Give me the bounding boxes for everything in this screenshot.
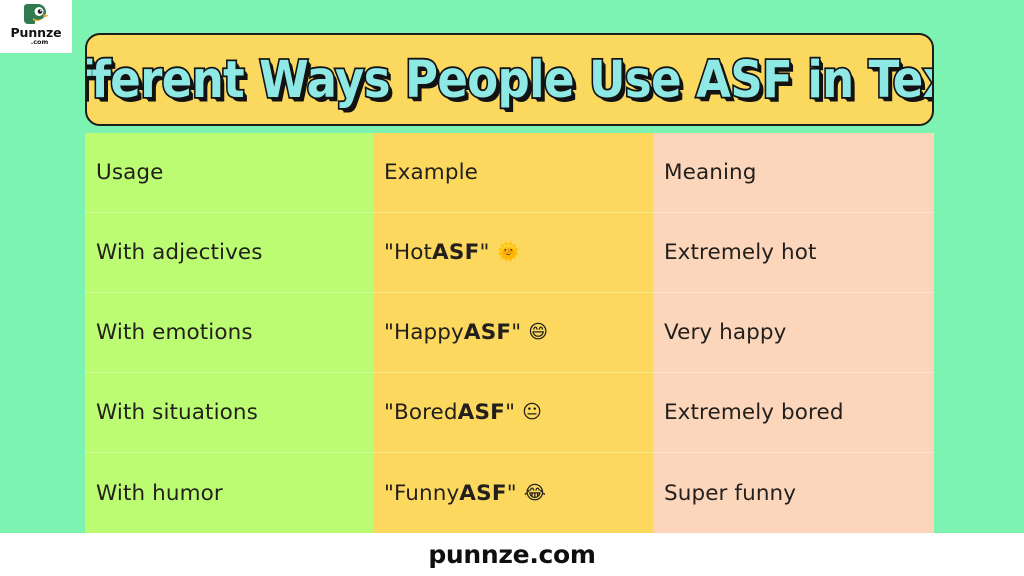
column-meaning: Meaning Extremely hot Very happy Extreme… bbox=[653, 133, 934, 533]
table-row: Extremely hot bbox=[653, 213, 934, 293]
table-row: Extremely bored bbox=[653, 373, 934, 453]
table-row: "Funny ASF"😂 bbox=[373, 453, 653, 533]
table-row: Very happy bbox=[653, 293, 934, 373]
example-suffix: " bbox=[505, 400, 515, 425]
example-prefix: "Funny bbox=[384, 481, 459, 506]
example-term: ASF bbox=[459, 481, 506, 506]
column-header-usage: Usage bbox=[85, 133, 373, 213]
column-example: Example "Hot ASF"🌞 "Happy ASF"😄 "Bored A… bbox=[373, 133, 653, 533]
example-suffix: " bbox=[507, 481, 517, 506]
column-header-meaning: Meaning bbox=[653, 133, 934, 213]
example-prefix: "Happy bbox=[384, 320, 464, 345]
brand-logo[interactable]: Punnze .com bbox=[0, 0, 72, 53]
infographic-canvas: Punnze .com Different Ways People Use AS… bbox=[0, 0, 1024, 576]
table-row: "Hot ASF"🌞 bbox=[373, 213, 653, 293]
title-banner: Different Ways People Use ASF in Texts bbox=[85, 33, 934, 126]
table-row: With situations bbox=[85, 373, 373, 453]
table-row: With adjectives bbox=[85, 213, 373, 293]
grinning-face-smiling-eyes-emoji: 😄 bbox=[528, 323, 548, 342]
face-with-tears-of-joy-emoji: 😂 bbox=[524, 484, 546, 503]
neutral-face-emoji: 😐 bbox=[522, 403, 542, 422]
example-suffix: " bbox=[511, 320, 521, 345]
footer: punnze.com bbox=[0, 533, 1024, 576]
table-row: With humor bbox=[85, 453, 373, 533]
table-row: With emotions bbox=[85, 293, 373, 373]
table-row: "Bored ASF"😐 bbox=[373, 373, 653, 453]
example-term: ASF bbox=[432, 240, 479, 265]
example-prefix: "Hot bbox=[384, 240, 432, 265]
sun-with-face-emoji: 🌞 bbox=[496, 243, 520, 262]
example-prefix: "Bored bbox=[384, 400, 458, 425]
usage-table: Usage With adjectives With emotions With… bbox=[85, 133, 934, 533]
page-title: Different Ways People Use ASF in Texts bbox=[85, 54, 934, 104]
footer-website: punnze.com bbox=[428, 540, 595, 569]
column-usage: Usage With adjectives With emotions With… bbox=[85, 133, 373, 533]
table-row: Super funny bbox=[653, 453, 934, 533]
column-header-example: Example bbox=[373, 133, 653, 213]
example-term: ASF bbox=[458, 400, 505, 425]
example-suffix: " bbox=[479, 240, 489, 265]
table-row: "Happy ASF"😄 bbox=[373, 293, 653, 373]
brand-tld: .com bbox=[31, 39, 49, 46]
duck-head-icon bbox=[23, 3, 49, 25]
example-term: ASF bbox=[464, 320, 511, 345]
